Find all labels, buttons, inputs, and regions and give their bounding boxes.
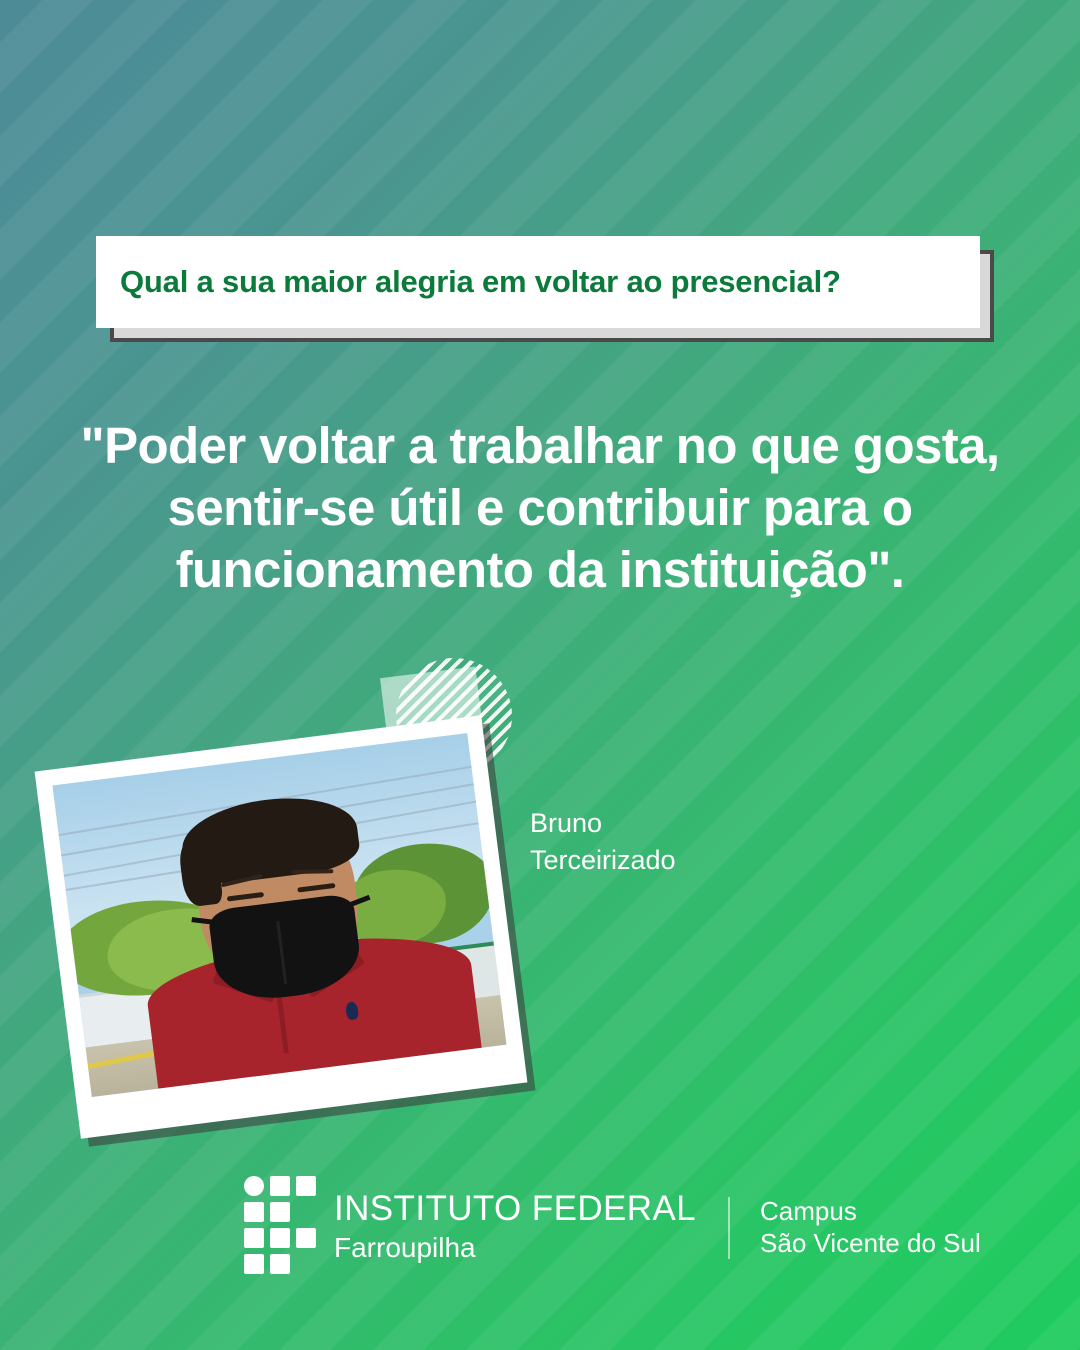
logo-square [270, 1254, 290, 1274]
question-banner: Qual a sua maior alegria em voltar ao pr… [96, 236, 980, 328]
logo-square [244, 1254, 264, 1274]
logo-square [270, 1228, 290, 1248]
question-text: Qual a sua maior alegria em voltar ao pr… [120, 264, 841, 300]
campus-label: Campus [760, 1196, 981, 1228]
campus-block: Campus São Vicente do Sul [760, 1196, 981, 1259]
institution-wordmark: INSTITUTO FEDERAL Farroupilha [334, 1191, 696, 1265]
credit-block: Bruno Terceirizado [530, 805, 676, 878]
logo-square [244, 1228, 264, 1248]
logo-square [270, 1202, 290, 1222]
portrait-photo [52, 733, 506, 1097]
photo-polaroid-frame [35, 715, 528, 1138]
logo-dot-circle [244, 1176, 264, 1196]
poster-canvas: Qual a sua maior alegria em voltar ao pr… [0, 0, 1080, 1350]
credit-name: Bruno [530, 805, 676, 842]
instituto-federal-logo-mark-icon [244, 1176, 318, 1280]
institution-subname: Farroupilha [334, 1230, 696, 1265]
footer-logo-lockup: INSTITUTO FEDERAL Farroupilha Campus São… [244, 1176, 981, 1280]
logo-square [270, 1176, 290, 1196]
logo-divider [728, 1197, 730, 1259]
quote-text: "Poder voltar a trabalhar no que gosta, … [60, 415, 1020, 602]
logo-square [296, 1228, 316, 1248]
question-banner-box: Qual a sua maior alegria em voltar ao pr… [96, 236, 980, 328]
institution-name: INSTITUTO FEDERAL [334, 1191, 696, 1226]
logo-square [244, 1202, 264, 1222]
diagonal-stripe-overlay [0, 0, 1080, 1350]
campus-name: São Vicente do Sul [760, 1228, 981, 1260]
logo-square [296, 1176, 316, 1196]
credit-role: Terceirizado [530, 842, 676, 879]
